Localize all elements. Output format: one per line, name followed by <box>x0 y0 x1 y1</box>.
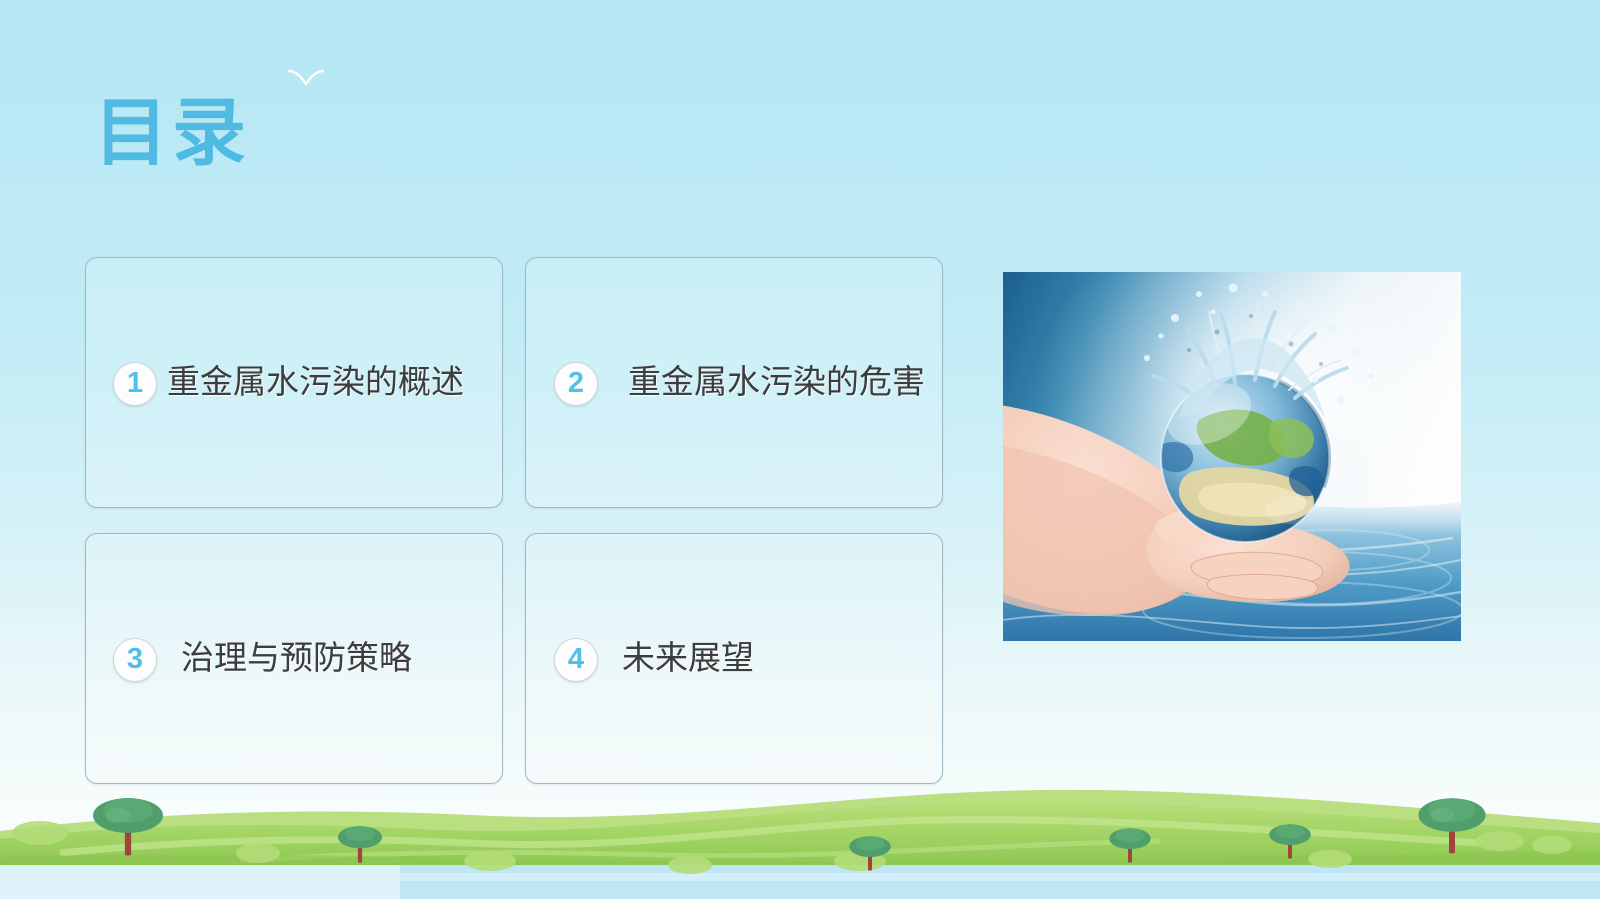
toc-card-1[interactable]: 1 重金属水污染的概述 <box>85 257 503 508</box>
toc-card-1-number: 1 <box>113 362 157 406</box>
toc-card-1-label: 重金属水污染的概述 <box>167 367 464 400</box>
toc-card-3[interactable]: 3 治理与预防策略 <box>85 533 503 784</box>
slide-canvas: 目录 1 重金属水污染的概述 2 重金属水污染的危害 3 治理与预防策略 4 未… <box>0 0 1600 899</box>
toc-card-3-number: 3 <box>113 638 157 682</box>
toc-card-3-label: 治理与预防策略 <box>181 643 412 676</box>
toc-card-4-label: 未来展望 <box>622 643 754 676</box>
bottom-scenery <box>0 769 1600 899</box>
toc-card-2-label: 重金属水污染的危害 <box>628 367 925 400</box>
seagull-icon <box>287 67 325 93</box>
toc-card-4-number: 4 <box>554 638 598 682</box>
toc-card-2[interactable]: 2 重金属水污染的危害 <box>525 257 943 508</box>
toc-card-4[interactable]: 4 未来展望 <box>525 533 943 784</box>
page-title: 目录 <box>94 96 250 170</box>
tree-group <box>93 798 1486 871</box>
water-globe-photo <box>1003 272 1461 641</box>
toc-card-2-number: 2 <box>554 362 598 406</box>
